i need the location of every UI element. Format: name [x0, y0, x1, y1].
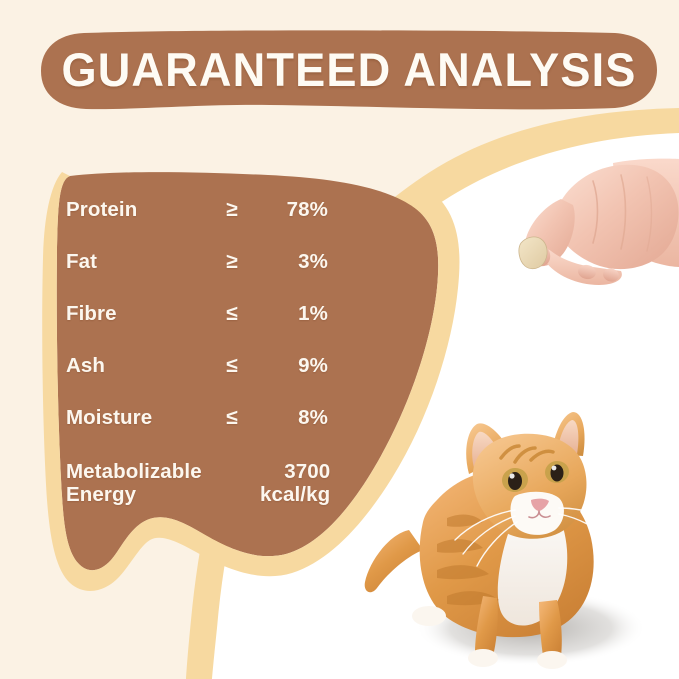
orange-tabby-kitten-photo — [363, 410, 663, 672]
cat-paw-left — [468, 649, 498, 667]
nutrient-value: 3% — [260, 250, 328, 273]
guaranteed-analysis-table: Protein ≥ 78% Fat ≥ 3% Fibre ≤ 1% Ash ≤ … — [66, 198, 328, 507]
cat-illustration — [363, 410, 663, 672]
table-row: Ash ≤ 9% — [66, 354, 328, 406]
table-row: Protein ≥ 78% — [66, 198, 328, 250]
nutrient-name: Moisture — [66, 406, 204, 429]
hand-holding-treat-photo — [495, 155, 679, 310]
nutrient-operator: ≥ — [204, 250, 260, 274]
table-row: Moisture ≤ 8% — [66, 406, 328, 458]
nutrient-name: Protein — [66, 198, 204, 221]
cat-treat — [519, 237, 547, 269]
nutrient-value: 8% — [260, 406, 328, 429]
nutrient-value: 78% — [260, 198, 328, 221]
table-row-energy: Metabolizable Energy 3700 kcal/kg — [66, 460, 328, 507]
page-title: GUARANTEED ANALYSIS — [52, 30, 645, 112]
cat-tail — [365, 530, 423, 592]
cat-muzzle — [511, 492, 564, 535]
cat-paw-rear — [412, 606, 446, 626]
nutrient-operator: ≤ — [204, 302, 260, 326]
nutrient-name: Ash — [66, 354, 204, 377]
energy-name-line2: Energy — [66, 483, 204, 506]
nutrient-operator: ≤ — [204, 406, 260, 430]
product-infographic: GUARANTEED ANALYSIS Protein ≥ 78% Fat ≥ … — [0, 0, 679, 679]
page-title-banner: GUARANTEED ANALYSIS — [40, 30, 658, 112]
energy-name-line1: Metabolizable — [66, 460, 202, 483]
nutrient-value: 1% — [260, 302, 328, 325]
energy-value-line1: 3700 — [284, 460, 330, 483]
table-row: Fibre ≤ 1% — [66, 302, 328, 354]
nutrient-name: Fibre — [66, 302, 204, 325]
nutrient-value: 9% — [260, 354, 328, 377]
energy-name: Metabolizable Energy — [66, 460, 204, 507]
nutrient-operator: ≤ — [204, 354, 260, 378]
table-row: Fat ≥ 3% — [66, 250, 328, 302]
nutrient-name: Fat — [66, 250, 204, 273]
energy-value-line2: kcal/kg — [260, 483, 330, 506]
energy-value: 3700 kcal/kg — [260, 460, 330, 507]
nutrient-operator: ≥ — [204, 198, 260, 222]
cat-eye-highlight-left — [509, 473, 514, 478]
cat-eye-highlight-right — [552, 466, 557, 471]
cat-paw-right — [537, 651, 567, 669]
hand-illustration — [495, 155, 679, 310]
